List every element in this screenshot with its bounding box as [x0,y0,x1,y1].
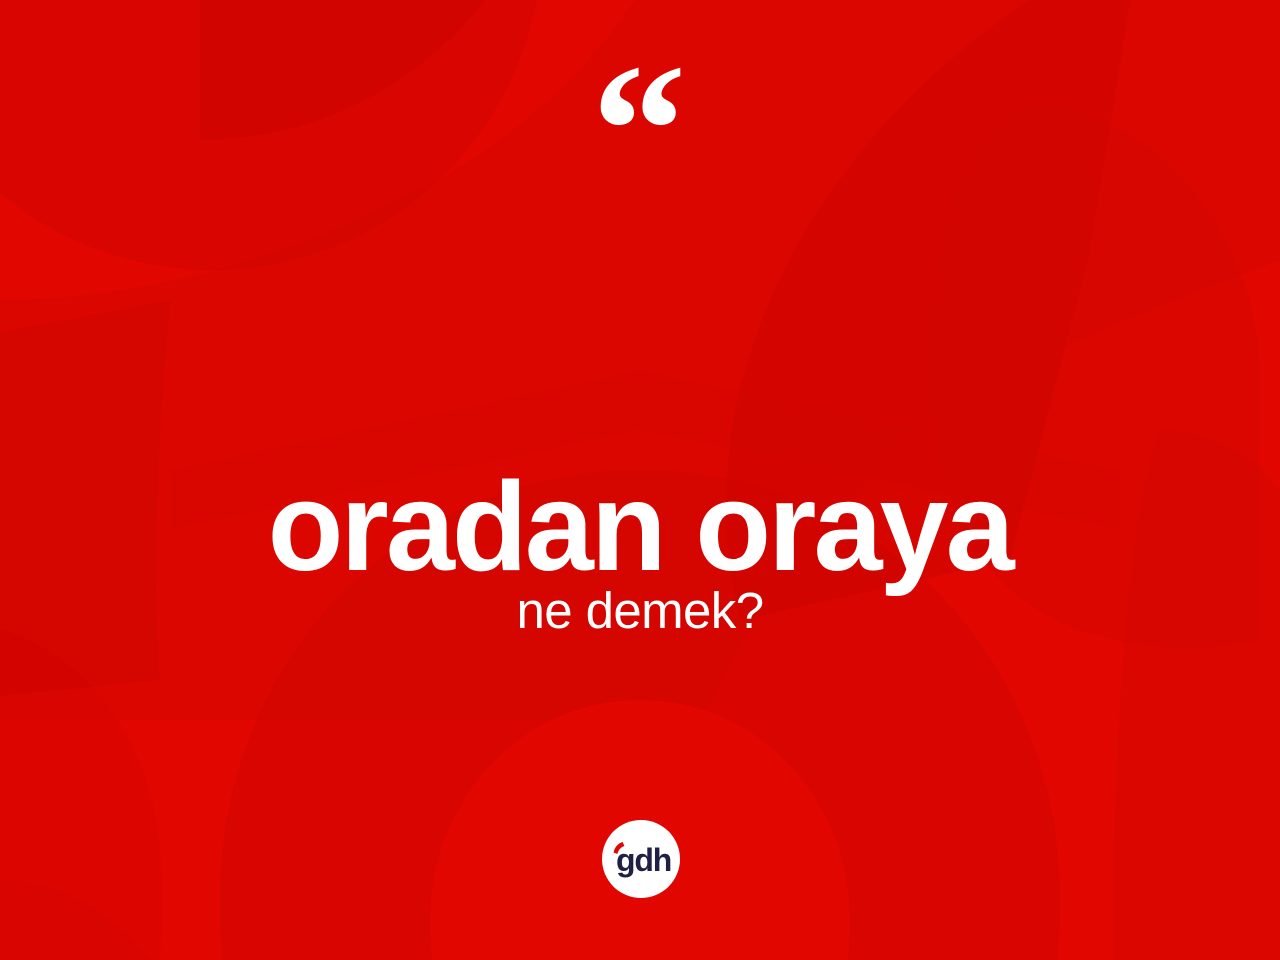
gdh-logo[interactable]: gdh [602,820,680,898]
page-subtitle: ne demek? [517,583,764,639]
card-content: “ oradan oraya ne demek? gdh [0,0,1280,960]
subhead-container: ne demek? [0,541,1280,682]
gdh-wordmark-text: gdh [616,842,671,878]
quote-card: “ oradan oraya ne demek? gdh [0,0,1280,960]
gdh-logo-mark: gdh [610,839,672,879]
left-double-quote-icon: “ [0,36,1280,226]
